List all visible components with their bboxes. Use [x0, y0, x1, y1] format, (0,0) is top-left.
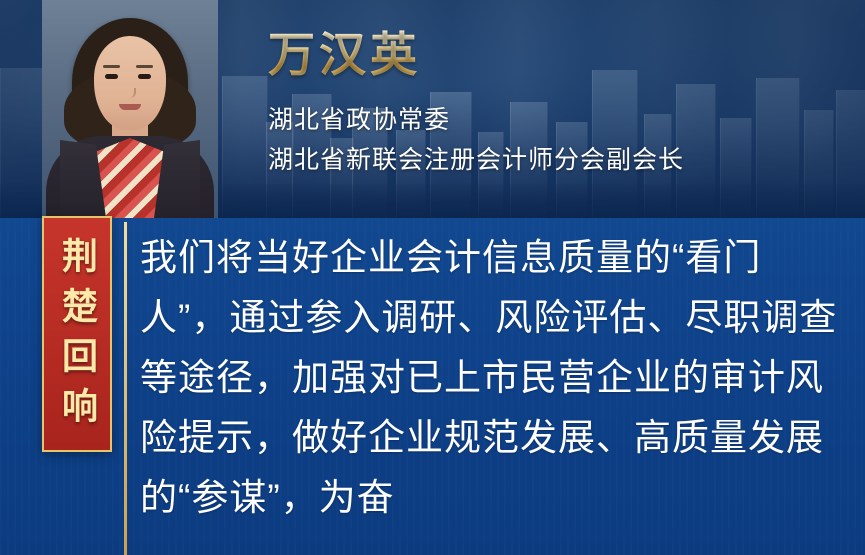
person-title-1: 湖北省政协常委 — [268, 100, 828, 141]
portrait-scarf — [94, 138, 166, 218]
portrait-eye-right — [138, 74, 151, 79]
person-name: 万汉英 — [268, 30, 828, 82]
quote-text: 我们将当好企业会计信息质量的“看门人”，通过参入调研、风险评估、尽职调查等途径，… — [140, 228, 840, 528]
title-block: 万汉英 湖北省政协常委 湖北省新联会注册会计师分会副会长 — [268, 30, 828, 181]
person-title-2: 湖北省新联会注册会计师分会副会长 — [268, 140, 828, 181]
portrait-mouth — [119, 104, 141, 110]
portrait-eyebrow-left — [103, 65, 120, 68]
series-banner: 荆楚回响 — [42, 216, 112, 452]
portrait-eye-left — [105, 74, 118, 79]
poster-root: 万汉英 湖北省政协常委 湖北省新联会注册会计师分会副会长 荆楚回响 我们将当好企… — [0, 0, 865, 555]
series-banner-label: 荆楚回响 — [59, 231, 95, 437]
quote-divider — [124, 222, 127, 555]
portrait-face — [94, 36, 166, 130]
portrait-eyebrow-right — [136, 65, 153, 68]
portrait-photo — [42, 0, 218, 218]
